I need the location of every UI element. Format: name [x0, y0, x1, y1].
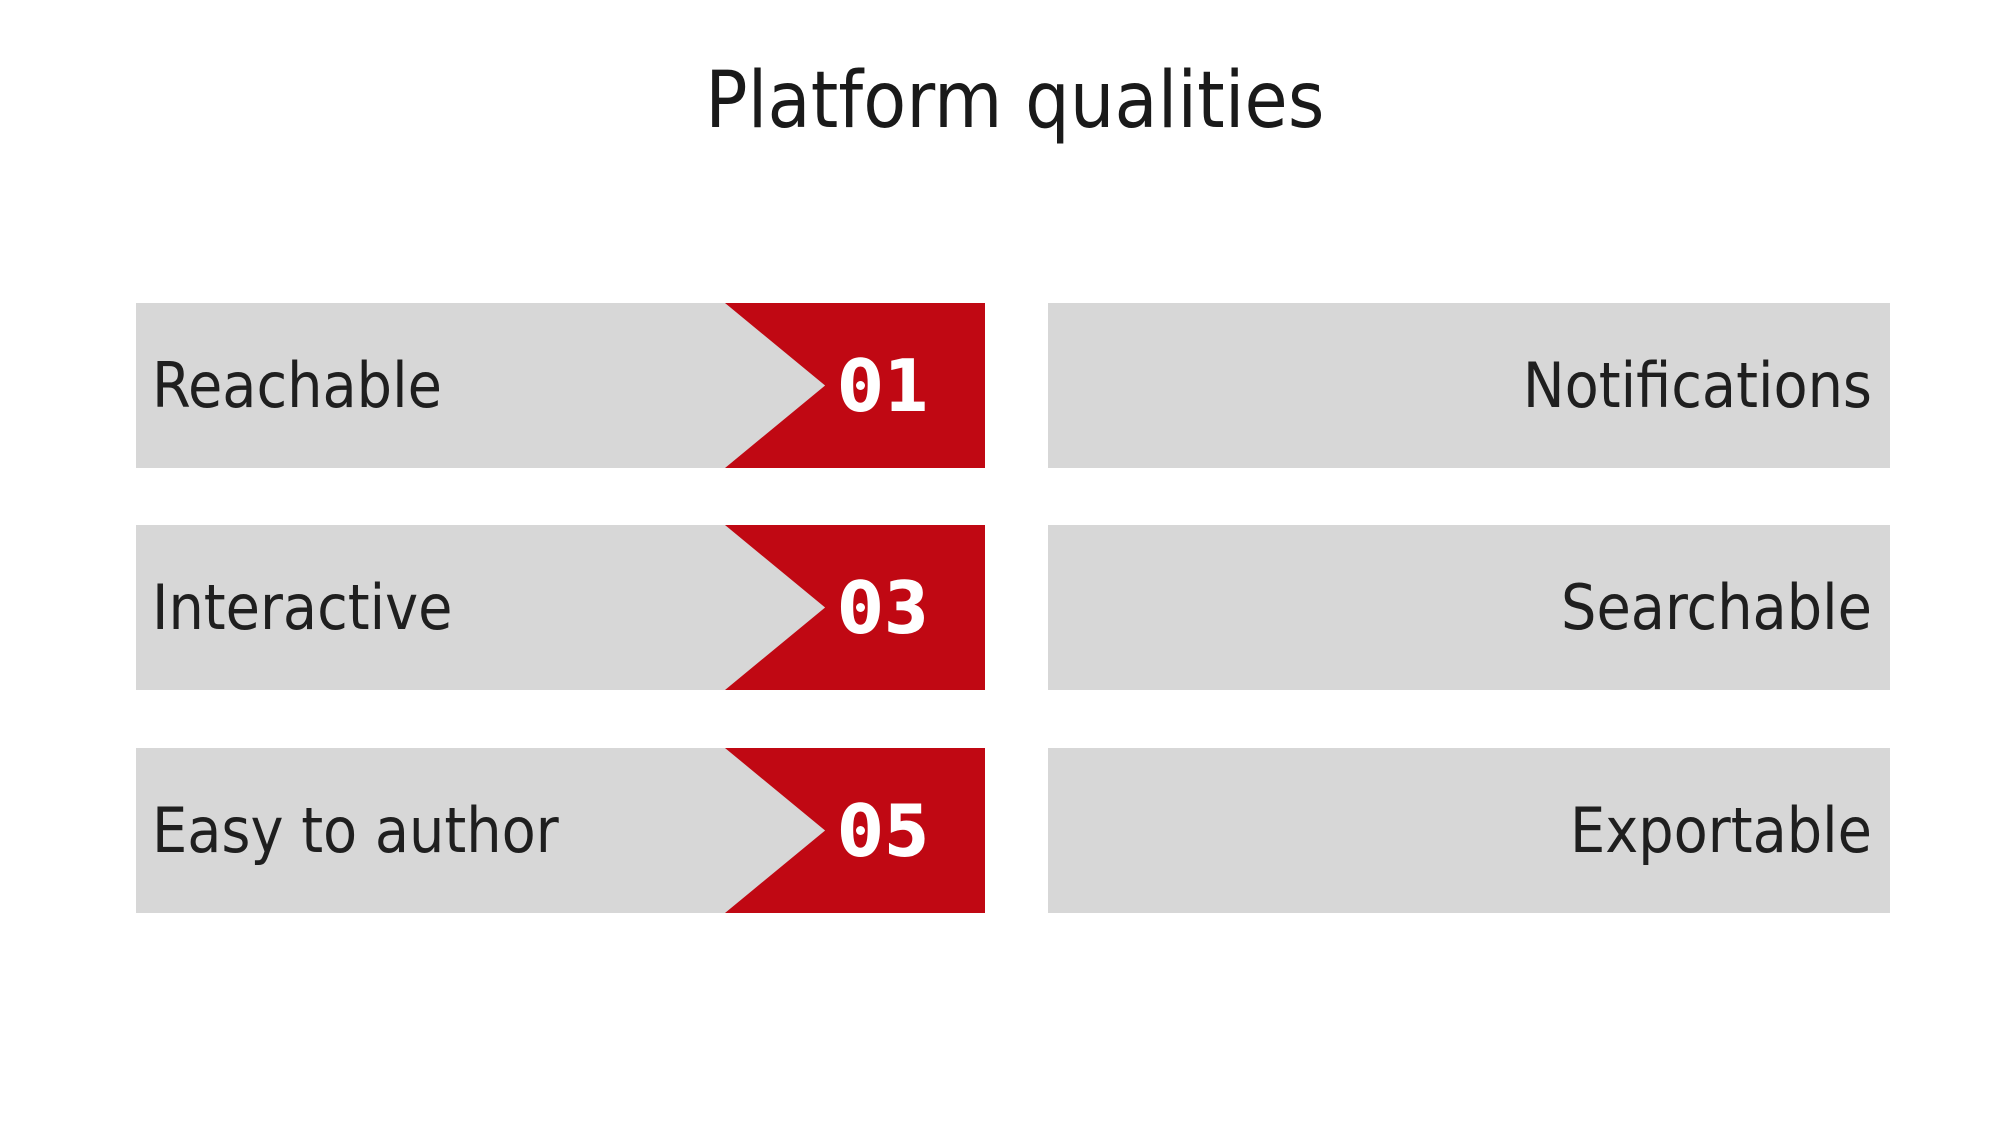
- number-digits: 3: [884, 566, 930, 650]
- step-number-01: 01: [838, 350, 930, 422]
- qualities-row: Interactive 03 04 Searchable: [0, 525, 2000, 690]
- quality-label-right: Exportable: [1570, 748, 1872, 913]
- qualities-row: Reachable 01 02 Notifications: [0, 303, 2000, 468]
- slide-canvas: Platform qualities Reachable 01 02 Notif…: [0, 0, 2000, 1125]
- quality-label-right: Searchable: [1561, 525, 1872, 690]
- page-title: Platform qualities: [0, 62, 2000, 140]
- quality-label-left: Reachable: [152, 303, 442, 468]
- quality-label-left: Interactive: [152, 525, 452, 690]
- step-number-03: 03: [838, 572, 930, 644]
- number-digits: 5: [884, 789, 930, 873]
- step-number-05: 05: [838, 795, 930, 867]
- zero-glyph: 0: [838, 350, 884, 422]
- quality-label-right: Notifications: [1523, 303, 1872, 468]
- qualities-row: Easy to author 05 06 Exportable: [0, 748, 2000, 913]
- quality-label-left: Easy to author: [152, 748, 559, 913]
- zero-glyph: 0: [838, 795, 884, 867]
- zero-glyph: 0: [838, 572, 884, 644]
- number-digits: 1: [884, 344, 930, 428]
